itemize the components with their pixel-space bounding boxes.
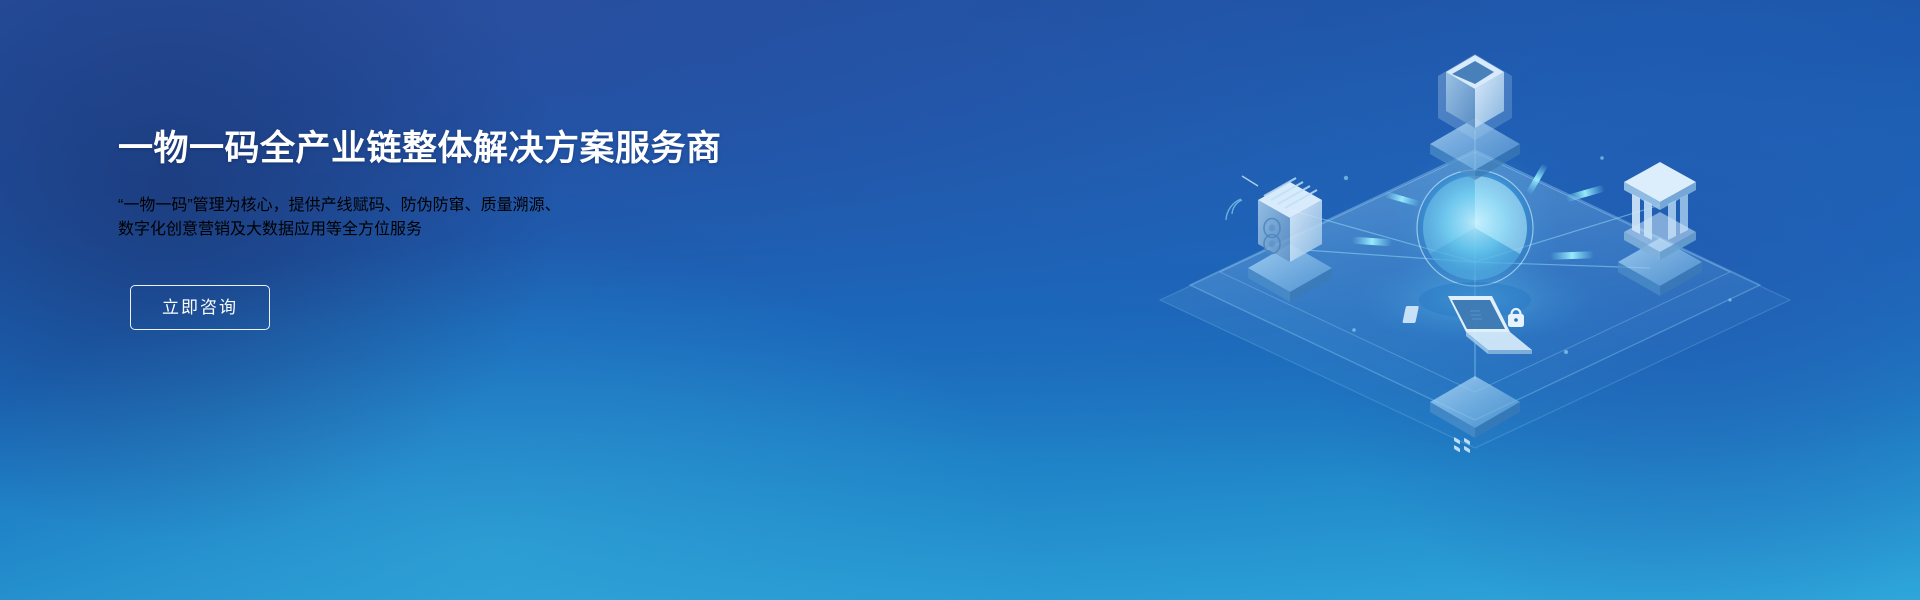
bank-building-icon — [1624, 162, 1696, 260]
wifi-signal-icon — [1226, 199, 1242, 220]
hero-banner: 一物一码全产业链整体解决方案服务商 “一物一码”管理为核心，提供产线赋码、防伪防… — [0, 0, 1920, 600]
isometric-iot-network-illustration — [860, 0, 1920, 600]
hero-subtitle-line-2: 数字化创意营销及大数据应用等全方位服务 — [118, 215, 838, 239]
server-rack-icon — [1242, 176, 1322, 262]
hero-copy-block: 一物一码全产业链整体解决方案服务商 “一物一码”管理为核心，提供产线赋码、防伪防… — [118, 128, 838, 330]
page-title: 一物一码全产业链整体解决方案服务商 — [118, 128, 838, 169]
consult-now-button[interactable]: 立即咨询 — [130, 285, 270, 330]
bank-building-node — [1618, 162, 1702, 296]
hero-subtitle-line-1: “一物一码”管理为核心，提供产线赋码、防伪防窜、质量溯源、 — [118, 191, 838, 215]
